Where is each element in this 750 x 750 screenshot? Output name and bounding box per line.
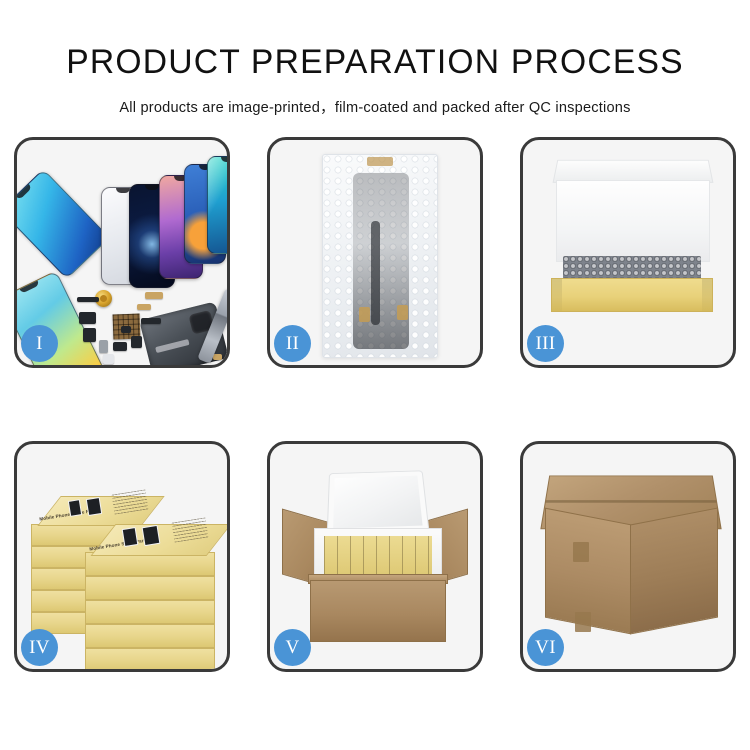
product-preparation-infographic: PRODUCT PREPARATION PROCESS All products… [0, 0, 750, 750]
process-step-panel-3: III [520, 137, 736, 368]
step-badge-2: II [274, 325, 311, 362]
connector-part [145, 292, 163, 299]
mailer-box-back-wall [556, 180, 710, 262]
connector-tab-left [359, 307, 370, 322]
carton-tape-lower [575, 612, 591, 632]
step-badge-5: V [274, 629, 311, 666]
process-step-panel-4: Mobile Phone Spare Parts Mobile Phone Sp… [14, 441, 230, 672]
bracket-part [79, 312, 96, 324]
flex-cable-part [77, 297, 99, 302]
sim-tray-part [99, 340, 108, 353]
process-step-panel-2: II [267, 137, 483, 368]
wrapped-part-body [353, 173, 409, 349]
box-layer [85, 600, 215, 624]
carton-front-wall [310, 580, 446, 642]
foam-box-lid [327, 470, 430, 534]
button-part [103, 354, 114, 364]
box-layer [85, 576, 215, 600]
page-subtitle: All products are image-printed，film-coat… [0, 79, 750, 117]
carton-tape-upper [573, 542, 589, 562]
retail-box-stack: Mobile Phone Spare Parts Mobile Phone Sp… [27, 466, 227, 666]
step-badge-6: VI [527, 629, 564, 666]
phone-screen-teal [207, 156, 227, 254]
process-step-panel-6: VI [520, 441, 736, 672]
chip-part [121, 326, 131, 333]
sealed-carton-right-face [630, 507, 718, 634]
process-step-panel-1: I [14, 137, 230, 368]
step-badge-4: IV [21, 629, 58, 666]
box-layer [85, 648, 215, 669]
vibrator-part [131, 336, 142, 348]
wrapped-part-cable [371, 221, 380, 325]
step-badge-3: III [527, 325, 564, 362]
mailer-box-front-wall [551, 278, 713, 312]
camera-module-part [83, 328, 96, 342]
box-window-right [142, 525, 161, 546]
process-step-grid: I II III [14, 137, 736, 672]
box-window-left [68, 499, 82, 517]
bubble-wrap-bag [322, 154, 438, 358]
page-title: PRODUCT PREPARATION PROCESS [4, 0, 747, 79]
contact-strip-part [137, 304, 151, 310]
box-layer [85, 624, 215, 648]
bag-seal [367, 157, 393, 166]
ribbon-part [141, 318, 161, 324]
process-step-panel-5: V [267, 441, 483, 672]
box-window-right [86, 497, 102, 516]
box-window-left [122, 527, 139, 547]
connector-tab-right [397, 305, 408, 320]
step-badge-1: I [21, 325, 58, 362]
phone-screen-cyan-tilted [17, 169, 110, 280]
stacked-retail-boxes-inside [324, 536, 432, 578]
screw-part [213, 354, 222, 360]
speaker-part [113, 342, 127, 351]
header: PRODUCT PREPARATION PROCESS All products… [0, 0, 750, 117]
